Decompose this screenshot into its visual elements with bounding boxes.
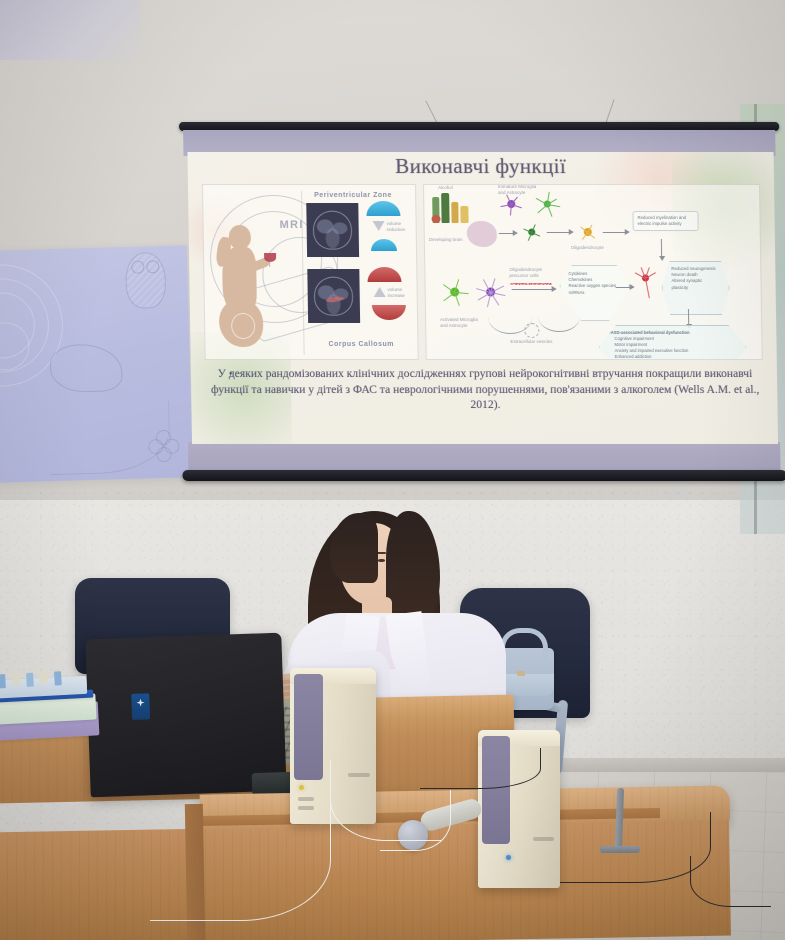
documents-stack[interactable]: [0, 665, 104, 753]
outcome-item: Altered synaptic plasticity: [671, 278, 719, 290]
neuroinflammation-label: Neuroinflammation: [510, 282, 552, 288]
mri-label: MRI: [280, 219, 304, 231]
astrocyte-bright-green: [439, 277, 469, 307]
wine-glass-icon: [264, 253, 276, 267]
screen-bottom-band: [188, 442, 781, 472]
developing-brain-label: Developing brain: [429, 237, 463, 243]
slide-bullet-text: У деяких рандомізованих клінічних дослід…: [211, 367, 759, 411]
slide-bullet-block: • У деяких рандомізованих клінічних досл…: [207, 366, 764, 413]
activated-glia-label: Activated Microglia and Astrocyte: [440, 317, 484, 328]
mri-scan-top: [306, 203, 359, 257]
mri-figure-panel: MRI Periventricular Zon: [202, 184, 419, 360]
microglia-dark-green: [521, 221, 543, 243]
pregnant-woman-silhouette: [210, 225, 268, 353]
behavioral-dysfunction-box: FASD-associated behavioral dysfunction C…: [598, 325, 747, 360]
neuron-outcomes-box: Reduced neurogenesis Neuron death Altere…: [661, 261, 730, 315]
volume-reduction-label: volume reduction: [387, 221, 411, 232]
ceiling-corner: [0, 0, 140, 60]
microglia-purple: [498, 191, 524, 217]
mural-flower-icon: [148, 430, 179, 461]
reduction-arrow: [373, 221, 385, 231]
oligodendrocyte-label: Oligodendrocyte: [571, 245, 609, 251]
behavior-item: Enhanced addiction: [609, 354, 737, 360]
cable-white: [380, 790, 451, 851]
flow-arrow-down: [661, 239, 662, 257]
cable-dark: [690, 856, 771, 907]
curved-arrow: [488, 301, 533, 334]
developing-brain-shape: [467, 221, 497, 247]
mediator-item: miRNAs: [569, 290, 621, 296]
stand-foot: [600, 846, 640, 853]
neuroinflammation-diagram-panel: Alcohol Developing brain Immature Microg…: [423, 184, 763, 360]
increase-arrow: [374, 287, 386, 297]
bullet-marker: •: [229, 368, 233, 381]
cable-white: [150, 800, 331, 921]
screen-bottom-bar: [182, 470, 785, 481]
slide-title: Виконавчі функції: [187, 154, 773, 179]
corpus-callosum-shape-small: [372, 305, 406, 320]
flow-arrow: [499, 233, 517, 234]
corpus-callosum-shape-large: [367, 267, 401, 282]
wall-mural-panel: [0, 245, 193, 482]
myelin-callout: Reduced myelination and electric impulse…: [632, 211, 698, 231]
laptop-sticker-icon: [131, 693, 150, 720]
oligodendrocyte-yellow: [577, 221, 599, 243]
flow-arrow: [512, 289, 556, 290]
damaged-neuron-red: [631, 261, 660, 295]
projection-screen: Виконавчі функції MRI: [175, 122, 785, 502]
mediator-item: Reactive oxygen species: [569, 283, 621, 289]
flow-arrow: [603, 232, 629, 233]
corpus-callosum-label: Corpus Callosum: [328, 341, 394, 348]
cable-dark: [420, 748, 541, 789]
lecture-room-photo: Виконавчі функції MRI: [0, 0, 785, 940]
oligo-precursor-label: Oligodendrocyte precursor cells: [509, 267, 549, 278]
hair-front-left: [330, 513, 378, 583]
mri-scan-bottom: [307, 269, 360, 323]
ventricle-shape-large: [366, 201, 400, 216]
extracellular-vesicles-label: Extracellular vesicles: [510, 339, 554, 345]
alcohol-bottles-icon: [430, 189, 471, 223]
ventricle-shape-small: [371, 239, 397, 251]
flow-arrow: [547, 232, 573, 233]
slide-content: Виконавчі функції MRI: [187, 152, 778, 444]
mural-owl-icon: [125, 252, 167, 309]
flow-arrow-down: [688, 309, 689, 325]
periventricular-zone-label: Periventricular Zone: [314, 192, 392, 199]
volume-increase-label: volume increase: [388, 287, 412, 298]
curved-arrow: [538, 301, 580, 332]
astrocyte-green: [532, 189, 562, 219]
slide-figure-row: MRI Periventricular Zon: [202, 184, 763, 360]
alcohol-label: Alcohol: [438, 185, 453, 191]
